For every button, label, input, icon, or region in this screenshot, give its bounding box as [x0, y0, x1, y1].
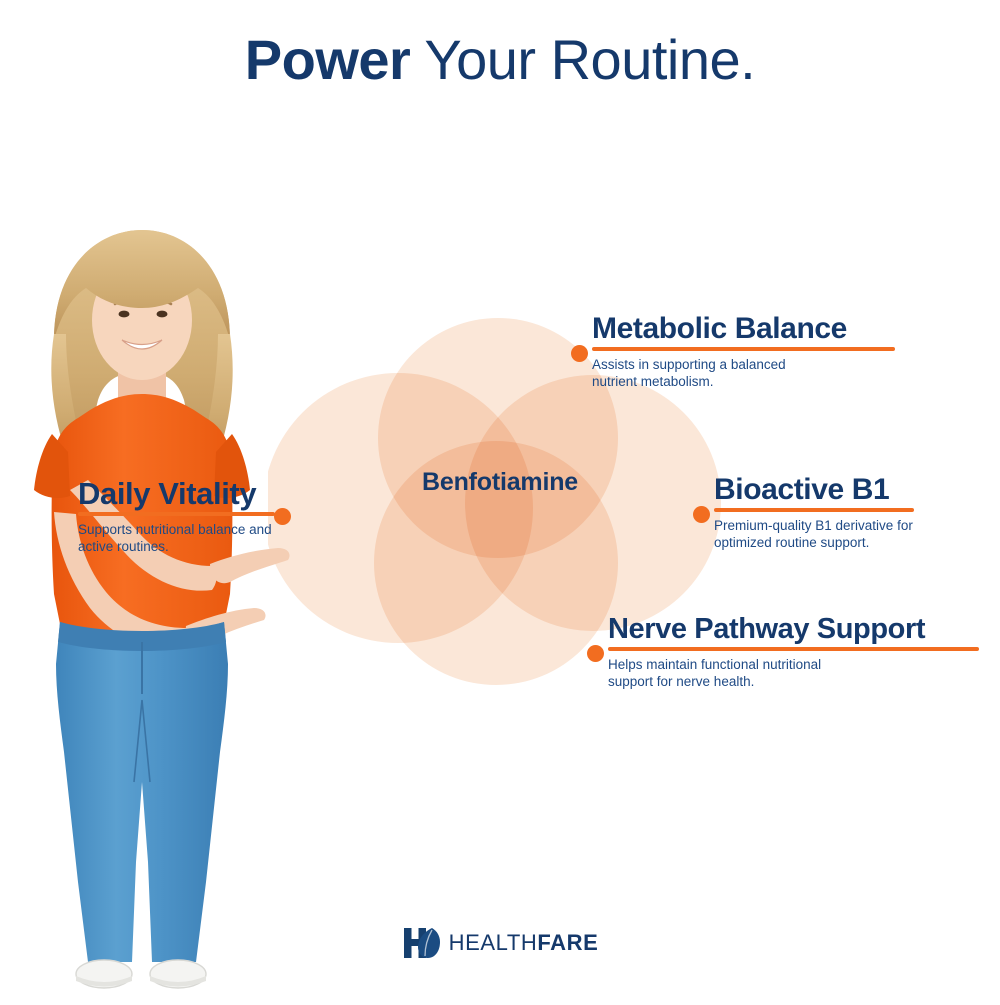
callout-dot-icon [571, 345, 588, 362]
infographic-canvas: Power Your Routine. Benfotiamine [0, 0, 1000, 1000]
callout-underline [78, 512, 275, 516]
callout-body: Supports nutritional balance and active … [78, 521, 338, 555]
callout-underline [608, 647, 979, 651]
headline-bold: Power [245, 28, 411, 91]
callout-title: Daily Vitality [78, 477, 338, 511]
brand-logo-wordmark: HEALTHFARE [449, 932, 599, 954]
callout-nerve-pathway-support[interactable]: Nerve Pathway Support Helps maintain fun… [608, 612, 1000, 690]
callout-body: Premium-quality B1 derivative for optimi… [714, 517, 1000, 551]
model-photo [0, 222, 322, 1000]
brand-logo: HEALTHFARE [0, 925, 1000, 961]
callout-underline [714, 508, 914, 512]
callout-title: Nerve Pathway Support [608, 612, 1000, 646]
callout-dot-icon [587, 645, 604, 662]
callout-underline [592, 347, 895, 351]
logo-word-fare: FARE [537, 930, 598, 955]
page-title: Power Your Routine. [0, 24, 1000, 96]
logo-word-health: HEALTH [449, 930, 538, 955]
model-eye-left [119, 311, 130, 318]
headline-regular: Your Routine. [410, 28, 755, 91]
callout-dot-icon [693, 506, 710, 523]
callout-daily-vitality[interactable]: Daily Vitality Supports nutritional bala… [78, 477, 338, 555]
model-eye-right [157, 311, 168, 318]
callout-title: Metabolic Balance [592, 312, 992, 346]
h-leaf-logo-icon [402, 925, 442, 961]
callout-body: Helps maintain functional nutritional su… [608, 656, 1000, 690]
callout-bioactive-b1[interactable]: Bioactive B1 Premium-quality B1 derivati… [714, 473, 1000, 551]
callout-metabolic-balance[interactable]: Metabolic Balance Assists in supporting … [592, 312, 992, 390]
callout-body: Assists in supporting a balanced nutrien… [592, 356, 992, 390]
callout-title: Bioactive B1 [714, 473, 1000, 507]
model-illustration [0, 222, 322, 1000]
callout-dot-icon [274, 508, 291, 525]
